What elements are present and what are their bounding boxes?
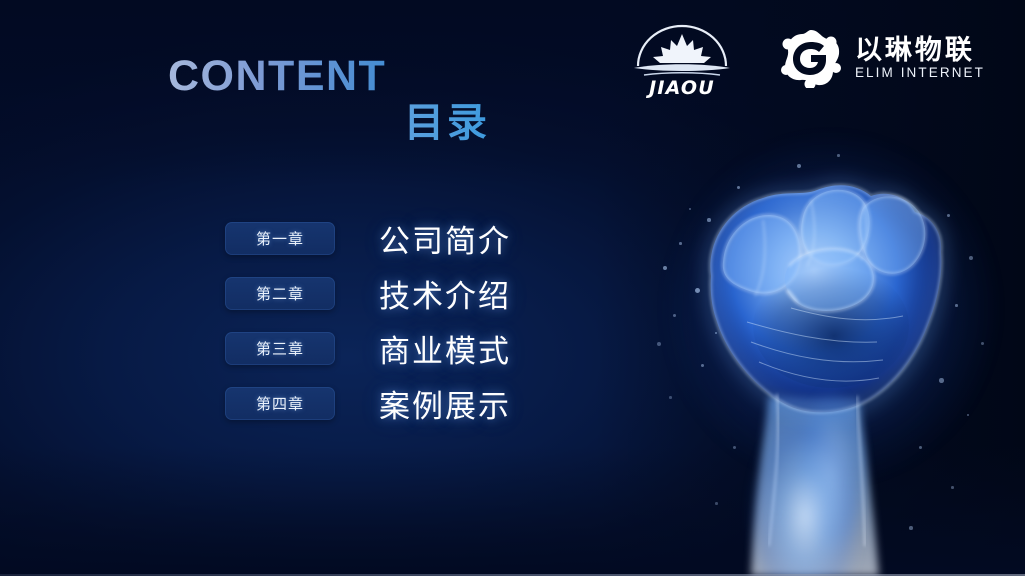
content-menu: 第一章 公司简介 第二章 技术介绍 第三章 商业模式 第四章 案例展示 bbox=[225, 222, 511, 420]
menu-title-1[interactable]: 公司简介 bbox=[379, 216, 511, 261]
menu-item-3[interactable]: 第三章 商业模式 bbox=[225, 332, 511, 365]
menu-item-1[interactable]: 第一章 公司简介 bbox=[225, 222, 511, 255]
chapter-chip-4[interactable]: 第四章 bbox=[225, 387, 335, 420]
menu-title-3[interactable]: 商业模式 bbox=[379, 326, 511, 371]
chapter-chip-3[interactable]: 第三章 bbox=[225, 332, 335, 365]
title-english: CONTENT bbox=[168, 55, 498, 98]
chapter-chip-2[interactable]: 第二章 bbox=[225, 277, 335, 310]
chapter-chip-1[interactable]: 第一章 bbox=[225, 222, 335, 255]
menu-item-2[interactable]: 第二章 技术介绍 bbox=[225, 277, 511, 310]
g-molecule-icon bbox=[778, 28, 842, 88]
jiaou-wordmark: JIAOU bbox=[645, 77, 715, 98]
menu-item-4[interactable]: 第四章 案例展示 bbox=[225, 387, 511, 420]
dome-crown-icon: JIAOU bbox=[630, 18, 734, 98]
page-title: CONTENT 目录 bbox=[168, 55, 498, 143]
chapter-chip-label-3: 第三章 bbox=[256, 338, 304, 359]
chapter-chip-label-4: 第四章 bbox=[256, 393, 304, 414]
background-bottom-vignette bbox=[0, 446, 1025, 576]
menu-title-2[interactable]: 技术介绍 bbox=[379, 271, 511, 316]
menu-title-4[interactable]: 案例展示 bbox=[379, 381, 511, 426]
elim-name-en: ELIM INTERNET bbox=[855, 66, 985, 80]
title-chinese: 目录 bbox=[168, 103, 498, 143]
logo-group: JIAOU 以琳物联 ELIM INTERNET bbox=[630, 18, 985, 98]
jiaou-logo: JIAOU bbox=[630, 18, 734, 98]
chapter-chip-label-1: 第一章 bbox=[256, 228, 304, 249]
chapter-chip-label-2: 第二章 bbox=[256, 283, 304, 304]
elim-wordmark: 以琳物联 ELIM INTERNET bbox=[855, 37, 985, 80]
elim-logo: 以琳物联 ELIM INTERNET bbox=[778, 28, 985, 88]
elim-name-cn: 以琳物联 bbox=[855, 37, 985, 65]
presentation-slide: CONTENT 目录 JIAOU bbox=[0, 0, 1025, 576]
